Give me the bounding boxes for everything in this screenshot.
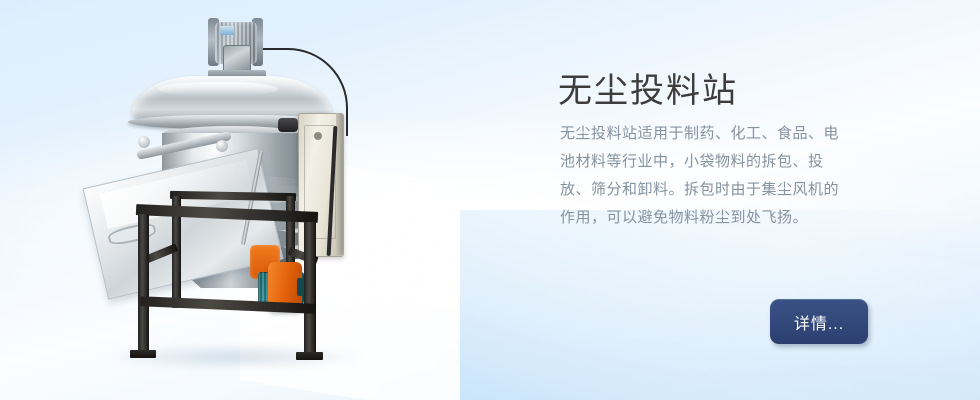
product-description: 无尘投料站适用于制药、化工、食品、电 池材料等行业中，小袋物料的拆包、投 放、筛…	[560, 120, 872, 232]
frame-leg-front-right	[304, 222, 316, 356]
description-line-3: 放、筛分和卸料。拆包时由于集尘风机的	[560, 176, 872, 204]
product-hero-banner: 无尘投料站 无尘投料站适用于制药、化工、食品、电 池材料等行业中，小袋物料的拆包…	[0, 0, 980, 400]
frame-foot-left	[130, 350, 156, 358]
dust-hood-highlight	[158, 82, 278, 96]
cable-junction	[278, 118, 298, 132]
description-line-4: 作用，可以避免物料粉尘到处飞扬。	[560, 204, 872, 232]
frame-leg-front-left	[138, 214, 149, 354]
banner-content: 无尘投料站 无尘投料站适用于制药、化工、食品、电 池材料等行业中，小袋物料的拆包…	[558, 0, 918, 400]
control-cabinet-knob	[314, 132, 322, 140]
description-line-2: 池材料等行业中，小袋物料的拆包、投	[560, 148, 872, 176]
lid-hinge-bolt-left	[138, 136, 150, 148]
details-button[interactable]: 详情...	[770, 299, 868, 344]
product-image-dust-free-feeding-station	[90, 0, 420, 385]
lid-hinge-bolt-right	[216, 140, 228, 152]
top-motor-label	[220, 26, 234, 35]
description-line-1: 无尘投料站适用于制药、化工、食品、电	[560, 120, 872, 148]
frame-foot-right	[296, 352, 323, 360]
control-cabinet-side	[336, 113, 343, 255]
page-title: 无尘投料站	[558, 71, 738, 112]
top-motor-terminal-box	[223, 45, 251, 73]
